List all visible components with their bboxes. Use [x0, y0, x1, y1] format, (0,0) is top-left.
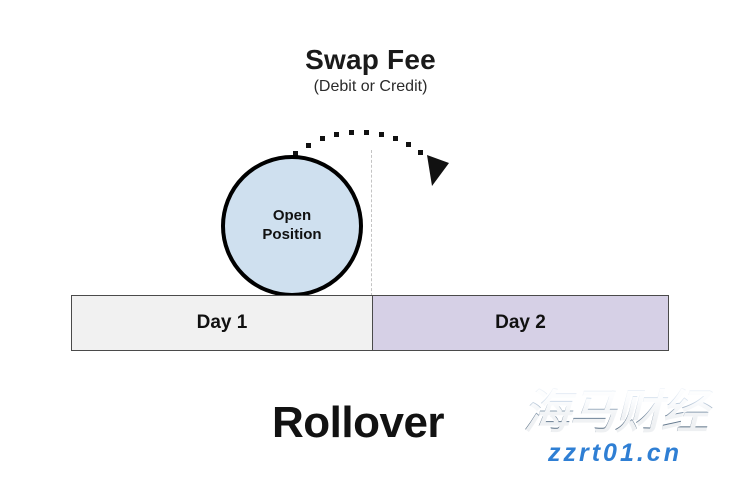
- rollover-diagram: Swap Fee (Debit or Credit) Open Position…: [0, 0, 741, 486]
- arc-dots-icon: [293, 130, 423, 156]
- page-subtitle: (Debit or Credit): [0, 78, 741, 96]
- timeline-cell-day-1: Day 1: [72, 296, 373, 350]
- watermark-domain: zzrt01.cn: [495, 439, 735, 468]
- watermark: 海马财经 zzrt01.cn: [495, 388, 735, 468]
- open-position-label: Open Position: [262, 207, 321, 245]
- timeline-cell-day-2: Day 2: [373, 296, 668, 350]
- day-boundary-dashed-line: [371, 150, 372, 296]
- page-title: Swap Fee: [0, 44, 741, 76]
- timeline-bar: Day 1 Day 2: [71, 295, 669, 351]
- arrow-head-icon: [427, 155, 449, 186]
- open-position-node: Open Position: [221, 155, 363, 297]
- watermark-brand: 海马财经: [495, 388, 735, 435]
- rollover-caption: Rollover: [272, 398, 444, 448]
